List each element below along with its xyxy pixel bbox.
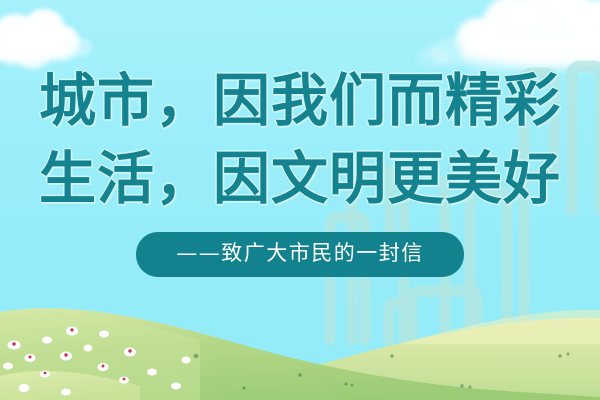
- poster-canvas: 城市，因我们而精彩 生活，因文明更美好 ——致广大市民的一封信: [0, 0, 600, 400]
- headline-line-1: 城市，因我们而精彩: [0, 62, 600, 140]
- grass-hill-back-highlight: [400, 310, 600, 344]
- subtitle-block: ——致广大市民的一封信: [0, 232, 600, 277]
- headline-line-2: 生活，因文明更美好: [0, 140, 600, 218]
- subtitle-badge: ——致广大市民的一封信: [136, 232, 464, 277]
- headline-block: 城市，因我们而精彩 生活，因文明更美好 ——致广大市民的一封信: [0, 62, 600, 277]
